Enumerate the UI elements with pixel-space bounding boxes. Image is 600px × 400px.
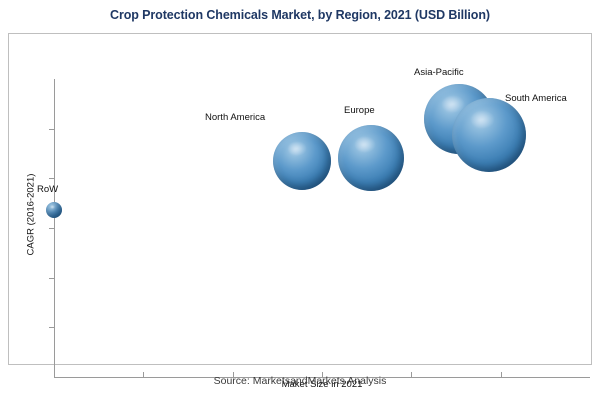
bubble-row[interactable] [46,202,62,218]
bubble-label-europe: Europe [344,105,375,116]
bubble-label-south-america: South America [505,93,567,104]
y-axis-tick [49,278,54,279]
bubble-label-north-america: North America [205,112,265,123]
y-axis-tick [49,327,54,328]
y-axis-tick [49,129,54,130]
y-axis-tick [49,178,54,179]
y-axis-tick [49,228,54,229]
chart-title: Crop Protection Chemicals Market, by Reg… [0,8,600,22]
bubble-south-america[interactable] [452,98,526,172]
chart-canvas: Crop Protection Chemicals Market, by Reg… [0,0,600,400]
y-axis-title: CAGR (2016-2021) [26,145,37,285]
source-note: Source: MarketsandMarkets Analysis [0,375,600,387]
bubble-label-row: RoW [37,184,58,195]
bubble-north-america[interactable] [273,132,331,190]
plot-area-frame: CAGR (2016-2021) Maket Size in 2021 RoWN… [8,33,592,365]
y-axis-line [54,79,55,377]
bubble-label-asia-pacific: Asia-Pacific [414,67,464,78]
bubble-europe[interactable] [338,125,404,191]
